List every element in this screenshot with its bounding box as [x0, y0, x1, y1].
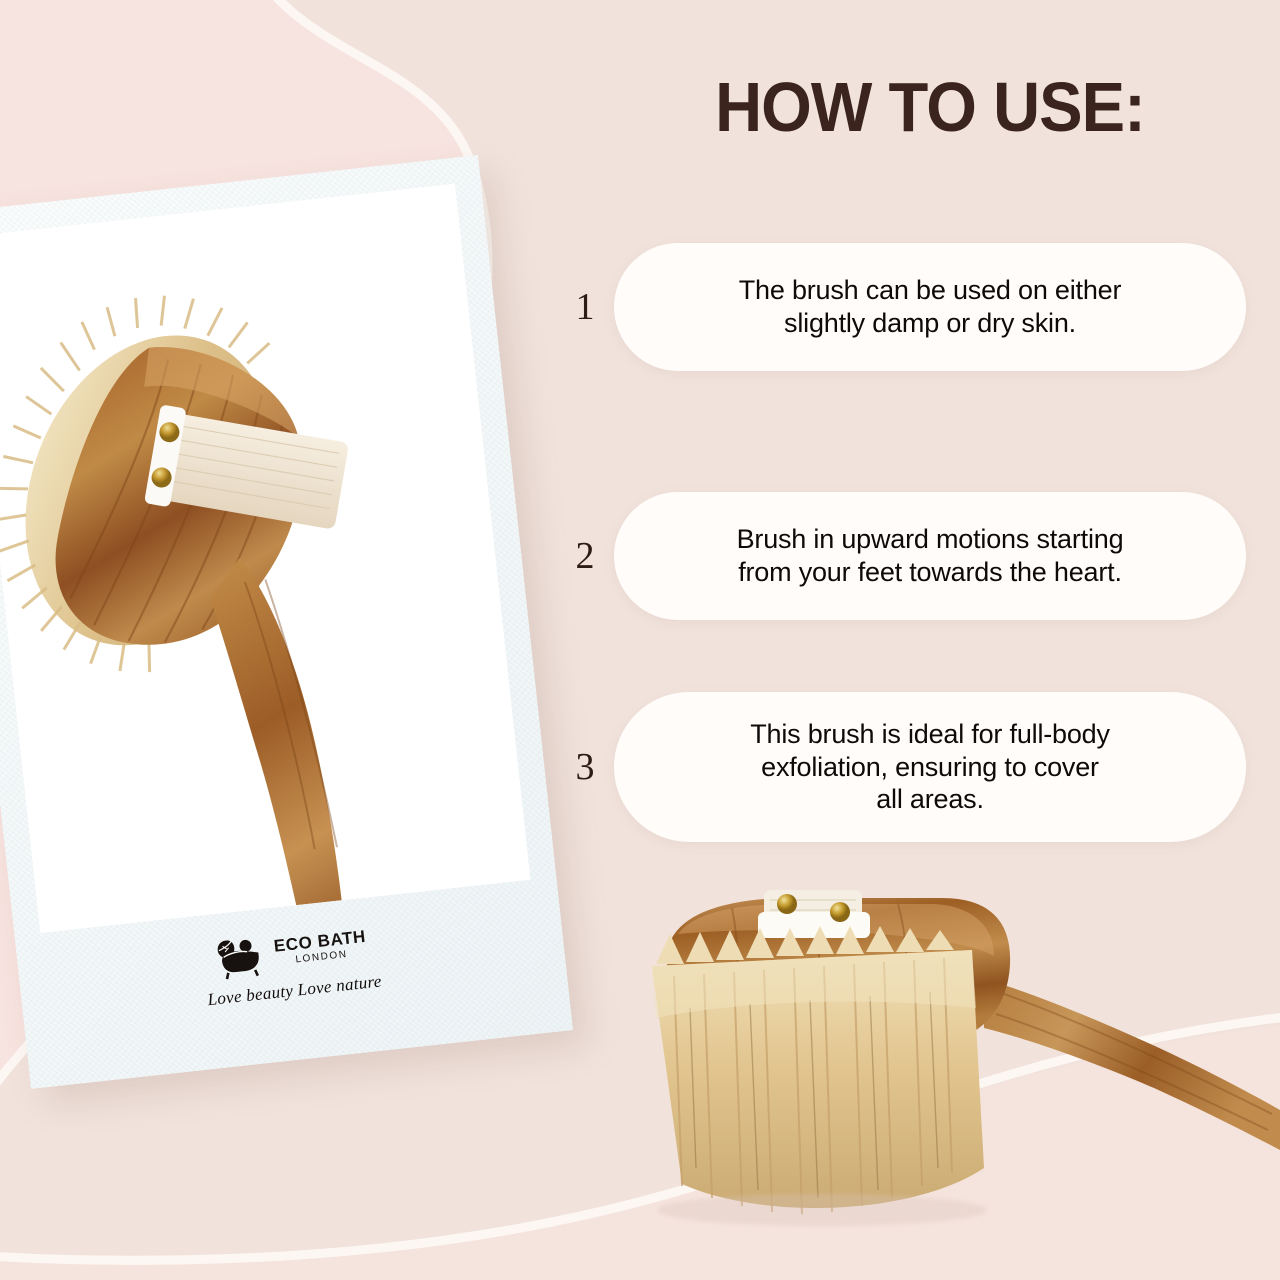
step-number: 2 — [556, 534, 614, 578]
step-item: 1 The brush can be used on either slight… — [556, 243, 1246, 371]
step-text-line: all areas. — [750, 783, 1110, 816]
step-text: The brush can be used on either slightly… — [739, 274, 1122, 340]
brand-name: ECO BATH — [273, 928, 367, 955]
step-text: Brush in upward motions starting from yo… — [737, 523, 1124, 589]
step-item: 2 Brush in upward motions starting from … — [556, 492, 1246, 620]
page-title: HOW TO USE: — [651, 72, 1209, 142]
step-text-line: This brush is ideal for full-body — [750, 718, 1110, 751]
step-text-line: from your feet towards the heart. — [737, 556, 1124, 589]
infographic-canvas: ECO BATH LONDON Love beauty Love nature … — [0, 0, 1280, 1280]
step-text-line: exfoliation, ensuring to cover — [750, 751, 1110, 784]
step-text-line: The brush can be used on either — [739, 274, 1122, 307]
polaroid-card: ECO BATH LONDON Love beauty Love nature — [0, 155, 573, 1089]
step-card: Brush in upward motions starting from yo… — [614, 492, 1246, 620]
product-photo — [612, 868, 1280, 1228]
step-number: 3 — [556, 745, 614, 789]
step-text-line: Brush in upward motions starting — [737, 523, 1124, 556]
brand-logo: ECO BATH LONDON Love beauty Love nature — [201, 919, 383, 1010]
step-item: 3 This brush is ideal for full-body exfo… — [556, 692, 1246, 842]
step-card: This brush is ideal for full-body exfoli… — [614, 692, 1246, 842]
step-text: This brush is ideal for full-body exfoli… — [750, 718, 1110, 817]
step-text-line: slightly damp or dry skin. — [739, 307, 1122, 340]
bathtub-leaf-icon — [212, 931, 269, 982]
polaroid-photo — [0, 184, 530, 933]
step-card: The brush can be used on either slightly… — [614, 243, 1246, 371]
step-number: 1 — [556, 285, 614, 329]
